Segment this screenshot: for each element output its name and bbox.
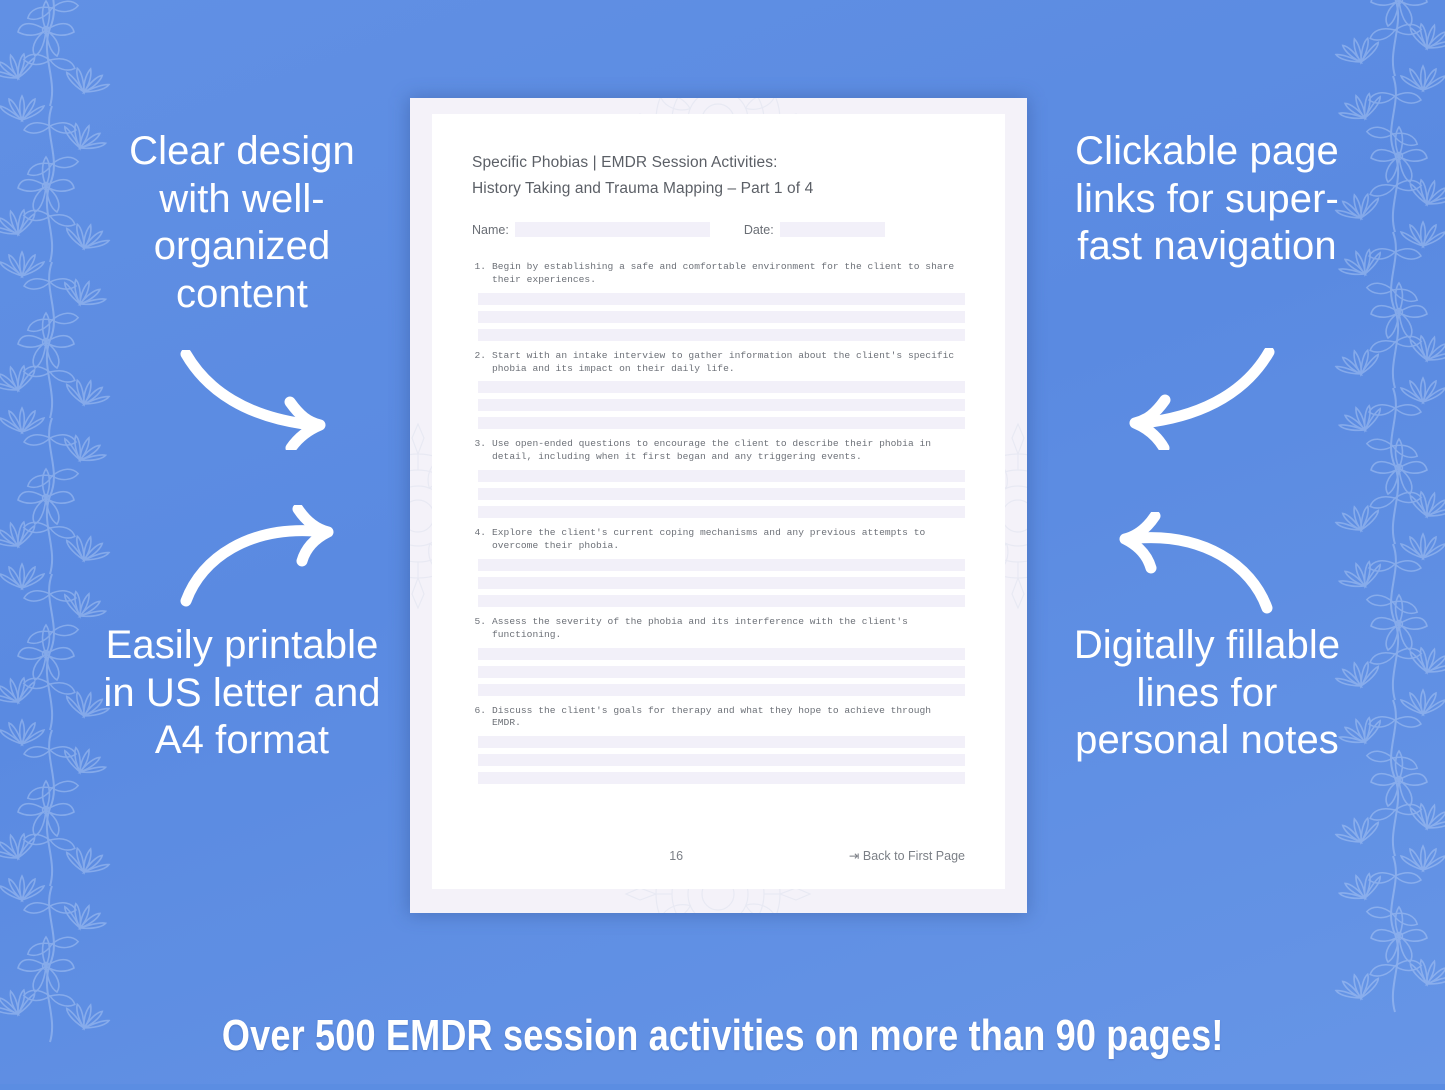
activity-item-text: Start with an intake interview to gather…: [492, 350, 965, 376]
caption-top-right: Clickable page links for super-fast navi…: [1057, 128, 1357, 271]
caption-bottom-right: Digitally fillable lines for personal no…: [1057, 622, 1357, 765]
meta-row: Name: Date:: [472, 222, 965, 237]
fill-line[interactable]: [478, 329, 965, 341]
activity-item-number: 3.: [472, 438, 492, 464]
page-title-line-1: Specific Phobias | EMDR Session Activiti…: [472, 150, 965, 176]
back-to-first-page-link[interactable]: ⇥ Back to First Page: [849, 848, 965, 863]
promo-banner: Over 500 EMDR session activities on more…: [0, 988, 1445, 1084]
activity-item: 3.Use open-ended questions to encourage …: [472, 438, 965, 518]
fill-line[interactable]: [478, 559, 965, 571]
fill-line[interactable]: [478, 488, 965, 500]
promo-banner-text: Over 500 EMDR session activities on more…: [222, 1011, 1224, 1061]
fill-lines-group: [478, 736, 965, 784]
page-number: 16: [669, 849, 683, 863]
curved-arrow-down-right-icon: [178, 350, 358, 450]
activity-item-text: Explore the client's current coping mech…: [492, 527, 965, 553]
fill-lines-group: [478, 293, 965, 341]
activity-list: 1.Begin by establishing a safe and comfo…: [472, 261, 965, 784]
fill-line[interactable]: [478, 595, 965, 607]
activity-item-text: Assess the severity of the phobia and it…: [492, 616, 965, 642]
fill-line[interactable]: [478, 736, 965, 748]
activity-item: 6.Discuss the client's goals for therapy…: [472, 705, 965, 785]
fill-line[interactable]: [478, 417, 965, 429]
activity-item-row: 4.Explore the client's current coping me…: [472, 527, 965, 553]
activity-item-row: 3.Use open-ended questions to encourage …: [472, 438, 965, 464]
page-title-line-2: History Taking and Trauma Mapping – Part…: [472, 176, 965, 202]
activity-item-text: Discuss the client's goals for therapy a…: [492, 705, 965, 731]
fill-line[interactable]: [478, 754, 965, 766]
activity-item-text: Use open-ended questions to encourage th…: [492, 438, 965, 464]
caption-bottom-left: Easily printable in US letter and A4 for…: [96, 622, 388, 765]
activity-item-number: 4.: [472, 527, 492, 553]
activity-item-number: 6.: [472, 705, 492, 731]
fill-line[interactable]: [478, 577, 965, 589]
page-title: Specific Phobias | EMDR Session Activiti…: [472, 150, 965, 202]
fill-lines-group: [478, 470, 965, 518]
curved-arrow-up-right-icon: [176, 505, 358, 609]
document-frame: Specific Phobias | EMDR Session Activiti…: [410, 98, 1027, 913]
fill-line[interactable]: [478, 684, 965, 696]
name-input[interactable]: [515, 222, 710, 237]
name-label: Name:: [472, 223, 509, 237]
activity-item: 1.Begin by establishing a safe and comfo…: [472, 261, 965, 341]
fill-line[interactable]: [478, 311, 965, 323]
activity-item: 2.Start with an intake interview to gath…: [472, 350, 965, 430]
activity-item-number: 2.: [472, 350, 492, 376]
worksheet-page: Specific Phobias | EMDR Session Activiti…: [432, 114, 1005, 889]
fill-line[interactable]: [478, 772, 965, 784]
fill-lines-group: [478, 559, 965, 607]
curved-arrow-down-left-icon: [1097, 348, 1277, 450]
caption-top-left: Clear design with well-organized content: [96, 128, 388, 318]
activity-item: 5.Assess the severity of the phobia and …: [472, 616, 965, 696]
date-input[interactable]: [780, 222, 885, 237]
date-label: Date:: [744, 223, 774, 237]
fill-line[interactable]: [478, 381, 965, 393]
page-footer: 16 ⇥ Back to First Page: [472, 848, 965, 863]
fill-line[interactable]: [478, 470, 965, 482]
fill-line[interactable]: [478, 506, 965, 518]
activity-item-number: 1.: [472, 261, 492, 287]
fill-line[interactable]: [478, 293, 965, 305]
activity-item-row: 6.Discuss the client's goals for therapy…: [472, 705, 965, 731]
curved-arrow-up-left-icon: [1095, 512, 1277, 616]
activity-item-row: 5.Assess the severity of the phobia and …: [472, 616, 965, 642]
activity-item-row: 2.Start with an intake interview to gath…: [472, 350, 965, 376]
activity-item: 4.Explore the client's current coping me…: [472, 527, 965, 607]
fill-line[interactable]: [478, 666, 965, 678]
activity-item-number: 5.: [472, 616, 492, 642]
activity-item-text: Begin by establishing a safe and comfort…: [492, 261, 965, 287]
fill-line[interactable]: [478, 648, 965, 660]
fill-lines-group: [478, 381, 965, 429]
activity-item-row: 1.Begin by establishing a safe and comfo…: [472, 261, 965, 287]
fill-lines-group: [478, 648, 965, 696]
fill-line[interactable]: [478, 399, 965, 411]
